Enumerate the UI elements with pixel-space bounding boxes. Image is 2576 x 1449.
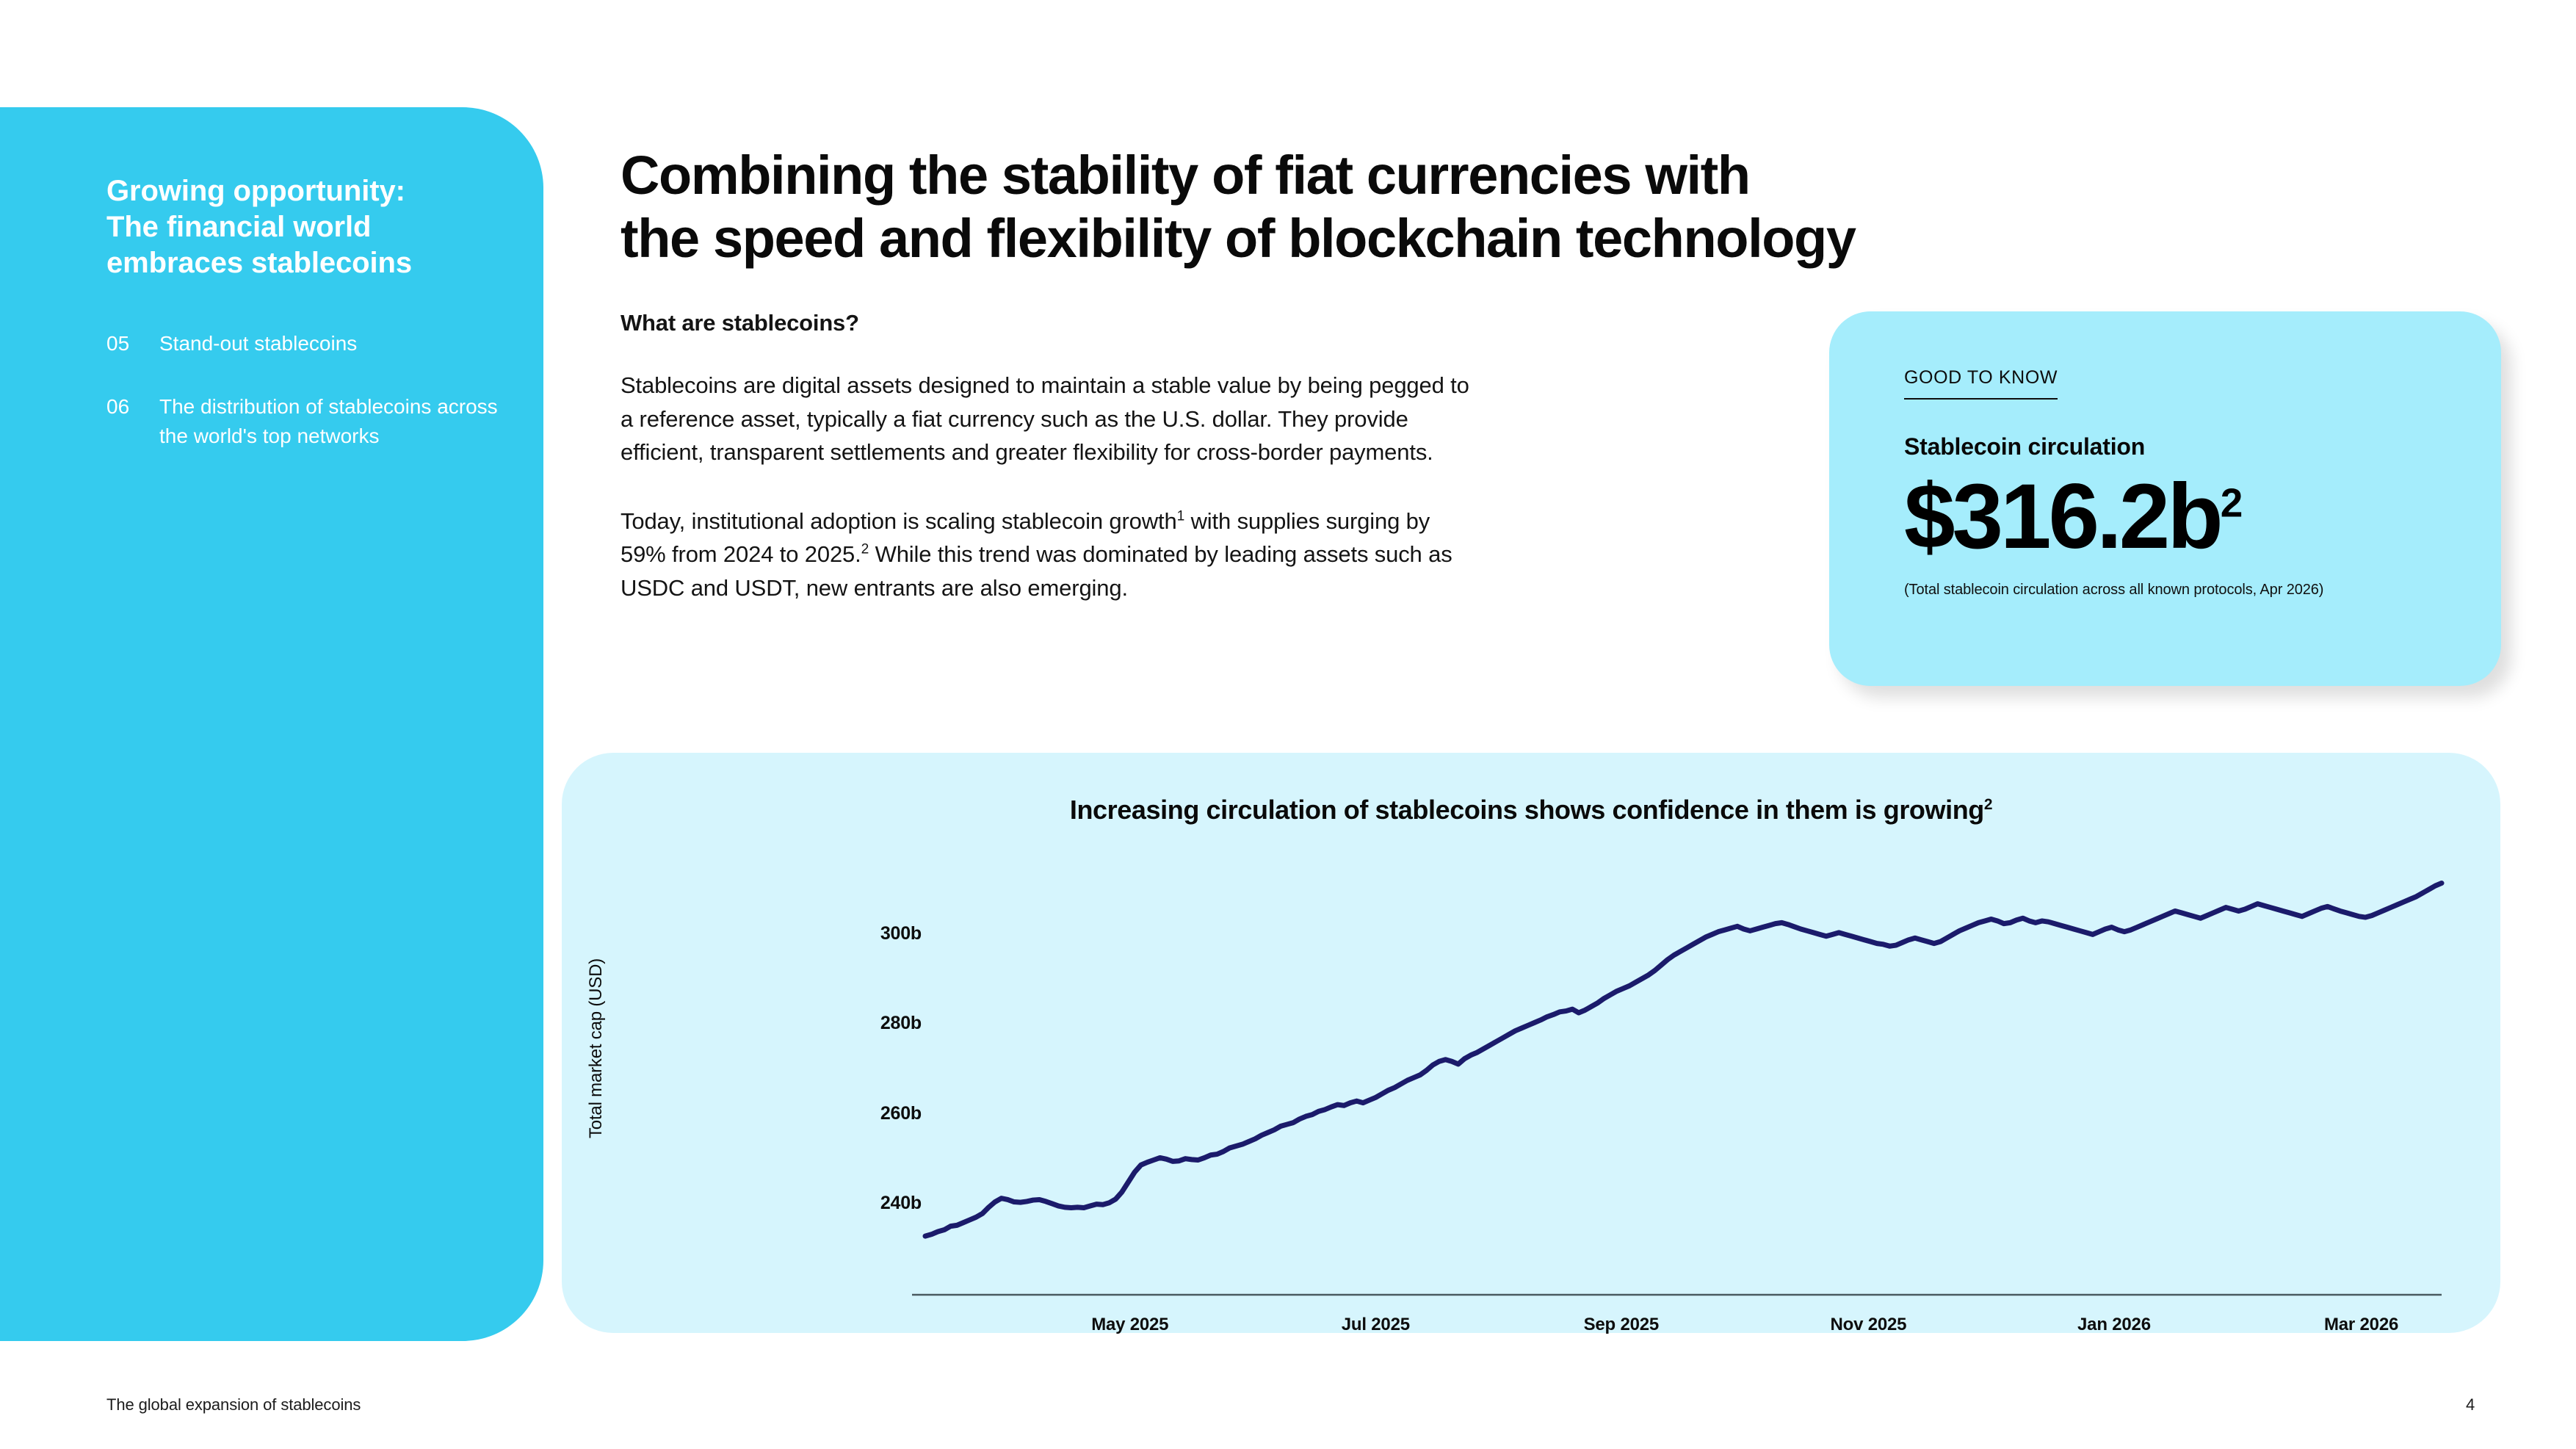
good-to-know-value-number: $316.2b <box>1904 466 2221 568</box>
chart-series-line <box>925 883 2442 1236</box>
good-to-know-card: GOOD TO KNOW Stablecoin circulation $316… <box>1829 311 2501 686</box>
sidebar-item-06[interactable]: 06 The distribution of stablecoins acros… <box>106 392 499 451</box>
good-to-know-value: $316.2b2 <box>1904 471 2501 563</box>
sidebar-item-05-label: Stand-out stablecoins <box>159 329 357 358</box>
chart-x-tick-jul-2025: Jul 2025 <box>1342 1315 1410 1335</box>
body-subheading: What are stablecoins? <box>621 310 1472 336</box>
body-paragraph-1: Stablecoins are digital assets designed … <box>621 369 1472 469</box>
footer-document-title: The global expansion of stablecoins <box>106 1395 361 1414</box>
page-title-line-1: Combining the stability of fiat currenci… <box>621 144 2089 208</box>
sidebar-title-line-1: Growing opportunity: <box>106 175 405 207</box>
chart-x-tick-sep-2025: Sep 2025 <box>1584 1315 1659 1335</box>
good-to-know-note: (Total stablecoin circulation across all… <box>1904 582 2501 599</box>
sidebar-title-line-3: embraces stablecoins <box>106 247 412 279</box>
chart-plot-area <box>562 753 2500 1333</box>
good-to-know-footnote-ref: 2 <box>2221 480 2240 525</box>
page-title: Combining the stability of fiat currenci… <box>621 144 2089 271</box>
sidebar-item-06-number: 06 <box>106 392 159 451</box>
good-to-know-label: Stablecoin circulation <box>1904 433 2501 460</box>
footer-page-number: 4 <box>2466 1395 2475 1414</box>
sidebar-item-05-number: 05 <box>106 329 159 358</box>
sidebar-title: Growing opportunity: The financial world… <box>106 173 499 281</box>
sidebar-item-05[interactable]: 05 Stand-out stablecoins <box>106 329 499 358</box>
footnote-ref-1: 1 <box>1177 508 1185 524</box>
body-paragraph-2-a: Today, institutional adoption is scaling… <box>621 508 1177 534</box>
page-title-line-2: the speed and flexibility of blockchain … <box>621 207 2089 271</box>
sidebar-item-06-label: The distribution of stablecoins across t… <box>159 392 499 451</box>
chart-x-tick-nov-2025: Nov 2025 <box>1831 1315 1907 1335</box>
body-copy: What are stablecoins? Stablecoins are di… <box>621 310 1472 640</box>
chart-x-tick-jan-2026: Jan 2026 <box>2077 1315 2151 1335</box>
sidebar-title-line-2: The financial world <box>106 211 371 243</box>
chart-panel: Increasing circulation of stablecoins sh… <box>562 753 2500 1333</box>
footnote-ref-2: 2 <box>861 542 869 557</box>
chart-x-tick-mar-2026: Mar 2026 <box>2324 1315 2398 1335</box>
good-to-know-eyebrow: GOOD TO KNOW <box>1904 367 2058 400</box>
sidebar: Growing opportunity: The financial world… <box>0 107 543 1341</box>
chart-x-tick-may-2025: May 2025 <box>1091 1315 1168 1335</box>
body-paragraph-2: Today, institutional adoption is scaling… <box>621 505 1472 605</box>
